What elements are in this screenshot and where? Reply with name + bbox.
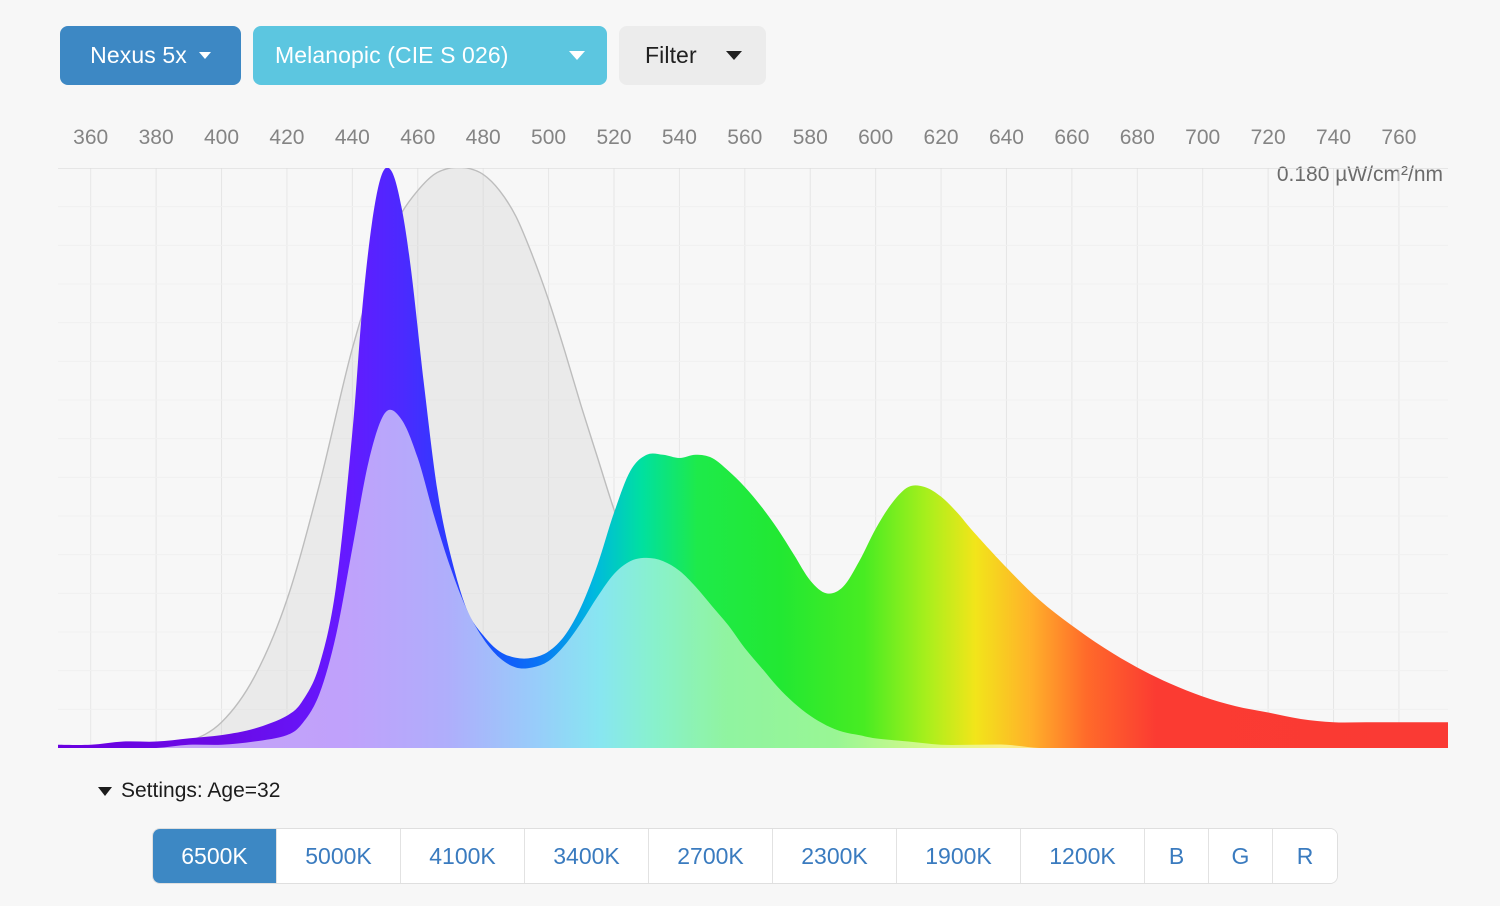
metric-selector-button[interactable]: Melanopic (CIE S 026) [253,26,607,85]
device-selector-label: Nexus 5x [90,44,187,67]
x-tick-740: 740 [1316,126,1351,150]
toolbar: Nexus 5x Melanopic (CIE S 026) Filter [60,26,766,85]
cct-segment-label: 2700K [677,843,744,870]
cct-segment-label: 4100K [429,843,496,870]
x-tick-680: 680 [1120,126,1155,150]
filter-button[interactable]: Filter [619,26,766,85]
cct-segment-label: 1900K [925,843,992,870]
cct-segment-1200k[interactable]: 1200K [1021,829,1145,883]
x-tick-480: 480 [466,126,501,150]
chart-series [58,168,1448,748]
x-tick-460: 460 [400,126,435,150]
cct-segment-label: B [1169,843,1184,870]
cct-segmented-control[interactable]: 6500K5000K4100K3400K2700K2300K1900K1200K… [153,829,1337,883]
x-tick-560: 560 [727,126,762,150]
filter-button-label: Filter [645,44,697,67]
cct-segment-g[interactable]: G [1209,829,1273,883]
x-tick-540: 540 [662,126,697,150]
cct-segment-label: 3400K [553,843,620,870]
settings-disclosure[interactable]: Settings: Age=32 [98,779,280,803]
cct-segment-6500k[interactable]: 6500K [153,829,277,883]
cct-segment-label: 1200K [1049,843,1116,870]
x-axis-ticks: 3603804004204404604805005205405605806006… [0,126,1500,156]
cct-segment-label: 2300K [801,843,868,870]
cct-segment-r[interactable]: R [1273,829,1337,883]
x-tick-620: 620 [924,126,959,150]
x-tick-660: 660 [1054,126,1089,150]
x-tick-440: 440 [335,126,370,150]
chevron-down-icon [199,52,211,59]
spectrum-chart[interactable] [58,168,1448,748]
cct-segment-3400k[interactable]: 3400K [525,829,649,883]
chevron-down-icon [569,51,585,60]
x-tick-700: 700 [1185,126,1220,150]
cct-segment-1900k[interactable]: 1900K [897,829,1021,883]
metric-selector-label: Melanopic (CIE S 026) [275,44,508,67]
x-tick-720: 720 [1251,126,1286,150]
app-root: Nexus 5x Melanopic (CIE S 026) Filter 36… [0,0,1500,906]
x-tick-360: 360 [73,126,108,150]
chevron-down-icon [726,51,742,60]
x-tick-420: 420 [269,126,304,150]
x-tick-580: 580 [793,126,828,150]
x-tick-640: 640 [989,126,1024,150]
cct-segment-5000k[interactable]: 5000K [277,829,401,883]
x-tick-400: 400 [204,126,239,150]
triangle-down-icon [98,787,112,796]
cct-segment-b[interactable]: B [1145,829,1209,883]
x-tick-380: 380 [139,126,174,150]
cct-segment-label: G [1232,843,1250,870]
cct-segment-2300k[interactable]: 2300K [773,829,897,883]
device-selector-button[interactable]: Nexus 5x [60,26,241,85]
cct-segment-label: 5000K [305,843,372,870]
cct-segment-label: R [1297,843,1314,870]
cct-segment-4100k[interactable]: 4100K [401,829,525,883]
x-tick-760: 760 [1381,126,1416,150]
x-tick-520: 520 [596,126,631,150]
cct-segment-label: 6500K [181,843,248,870]
cct-segment-2700k[interactable]: 2700K [649,829,773,883]
x-tick-600: 600 [858,126,893,150]
spectrum-chart-svg [58,168,1448,748]
settings-label: Settings: Age=32 [121,779,280,803]
x-tick-500: 500 [531,126,566,150]
